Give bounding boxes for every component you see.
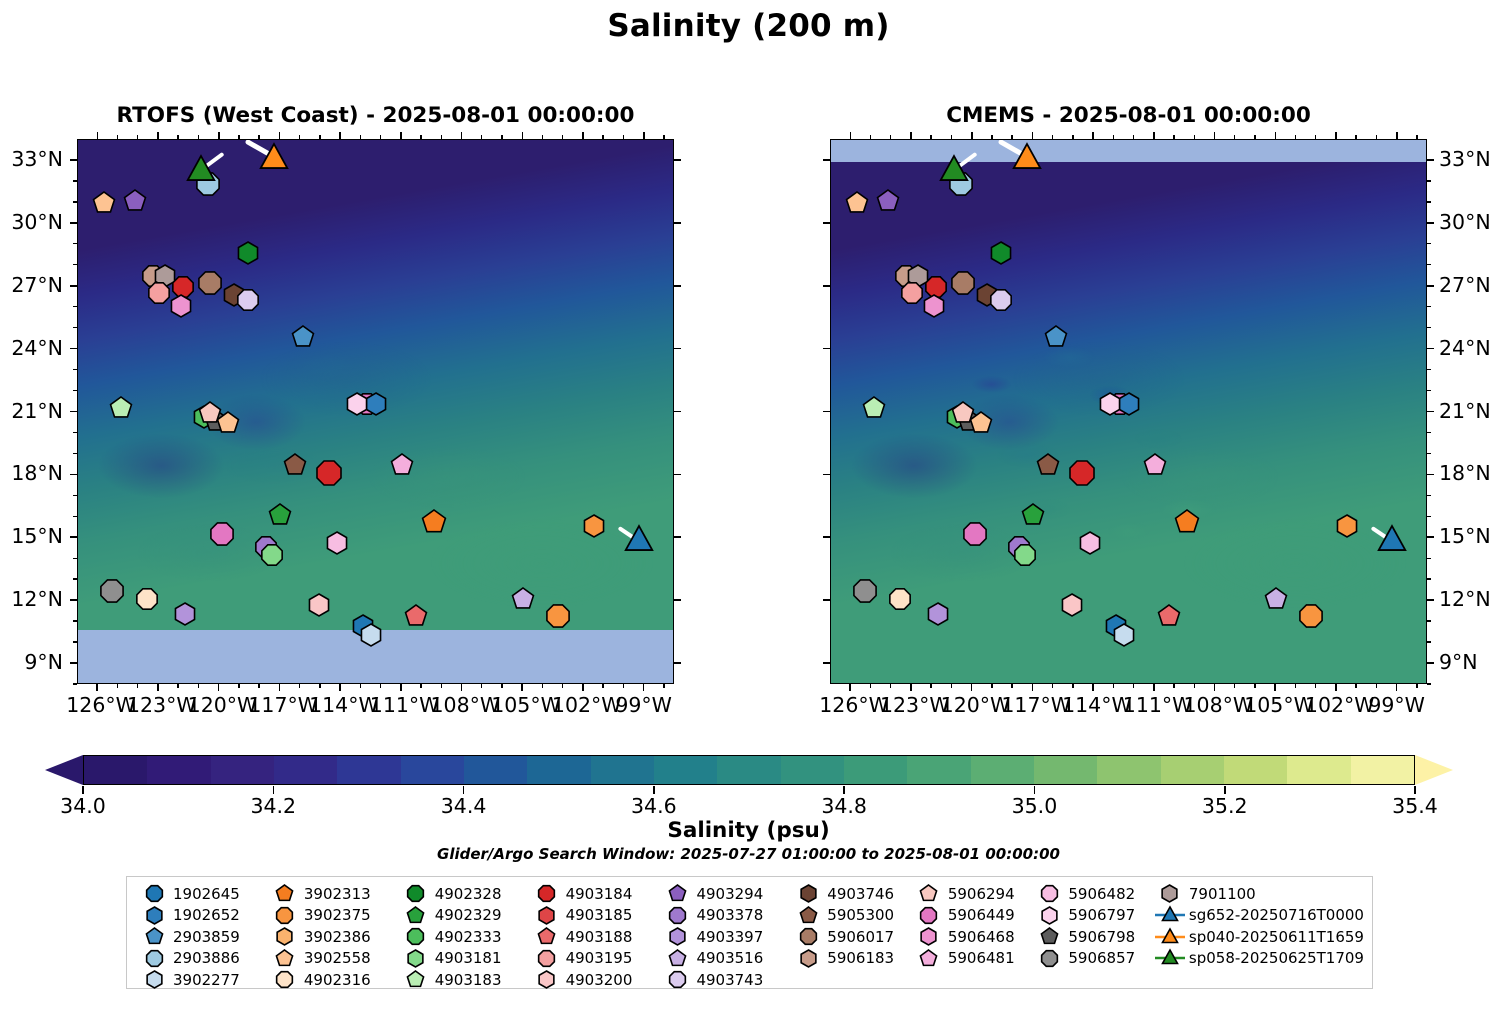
glider-track-icon: [1153, 905, 1187, 925]
y-tick-minor: [73, 180, 77, 181]
y-tick-inner: [823, 159, 830, 161]
platform-legend[interactable]: 1902645190265229038592903886390227739023…: [126, 876, 1373, 989]
platform-marker-icon: [660, 882, 694, 905]
y-tick-minor: [73, 495, 77, 496]
x-tick-label: 111°W: [370, 693, 432, 717]
legend-label: 4903378: [694, 906, 763, 924]
colorbar-tick: [273, 786, 275, 794]
legend-item[interactable]: 4903185: [530, 906, 661, 926]
x-tick-top: [97, 132, 99, 139]
x-tick-label: 126°W: [66, 693, 128, 717]
x-tick-minor: [623, 684, 624, 688]
platform-marker-icon: [268, 904, 302, 927]
y-tick-label: 30°N: [1439, 210, 1497, 234]
x-tick-minor: [420, 684, 421, 688]
legend-label: 5906857: [1066, 949, 1135, 967]
legend-item[interactable]: 4903181: [399, 949, 530, 969]
x-tick-label: 114°W: [1062, 693, 1124, 717]
map-marker: [937, 153, 971, 187]
y-tick: [70, 662, 77, 664]
colorbar-band: [1161, 756, 1224, 784]
x-tick: [971, 684, 973, 691]
platform-marker-icon: [912, 904, 946, 927]
platform-marker-icon: [268, 968, 302, 991]
x-tick-minor: [1113, 684, 1114, 688]
legend-label: 3902558: [302, 949, 371, 967]
legend-item[interactable]: 3902375: [268, 906, 399, 926]
legend-label: 4903200: [564, 971, 633, 989]
y-tick-inner: [674, 411, 681, 413]
legend-column: 5906482590679759067985906857: [1032, 884, 1153, 982]
legend-label: 5906183: [825, 949, 894, 967]
y-tick-inner: [823, 348, 830, 350]
y-tick-minor: [1427, 327, 1431, 328]
colorbar-band: [1287, 756, 1350, 784]
legend-label: 5906468: [946, 928, 1015, 946]
colorbar-band: [907, 756, 970, 784]
legend-item[interactable]: 5906798: [1032, 927, 1153, 947]
x-tick-label: 105°W: [1244, 693, 1306, 717]
search-window-text: Glider/Argo Search Window: 2025-07-27 01…: [0, 845, 1497, 863]
x-tick-label: 111°W: [1123, 693, 1185, 717]
x-tick-label: 108°W: [1184, 693, 1246, 717]
x-tick: [643, 684, 645, 691]
x-tick-minor: [991, 684, 992, 688]
y-tick-minor: [73, 390, 77, 391]
map-marker: [1010, 141, 1044, 175]
legend-column: 7901100 sg652-20250716T0000 sp040-202506…: [1153, 884, 1364, 982]
glider-track-icon: [1153, 927, 1187, 947]
y-tick-label: 18°N: [1439, 461, 1497, 485]
platform-marker-icon: [912, 947, 946, 970]
platform-marker-icon: [791, 925, 825, 948]
legend-item[interactable]: 1902645: [137, 884, 268, 904]
legend-label: 2903859: [171, 928, 240, 946]
legend-label: 4903184: [564, 885, 633, 903]
legend-item[interactable]: sg652-20250716T0000: [1153, 906, 1364, 926]
y-tick: [70, 348, 77, 350]
y-tick-minor: [1427, 243, 1431, 244]
map-marker: [258, 541, 286, 569]
y-tick: [70, 411, 77, 413]
legend-label: 3902277: [171, 971, 240, 989]
legend-label: 5905300: [825, 906, 894, 924]
legend-label: 4903195: [564, 949, 633, 967]
map-marker: [343, 390, 371, 418]
map-marker: [305, 591, 333, 619]
x-tick: [461, 684, 463, 691]
legend-label: 5906017: [825, 928, 894, 946]
x-tick-minor: [1355, 684, 1356, 688]
map-marker: [357, 621, 385, 649]
map-marker: [281, 451, 309, 479]
legend-item[interactable]: 3902277: [137, 970, 268, 990]
map-marker: [1076, 529, 1104, 557]
legend-label: 4903397: [694, 928, 763, 946]
legend-item[interactable]: sp058-20250625T1709: [1153, 949, 1364, 969]
x-tick: [96, 684, 98, 691]
x-tick-top: [501, 135, 502, 139]
colorbar-tick-label: 34.2: [250, 794, 296, 818]
map-panel-rtofs[interactable]: [77, 139, 674, 684]
platform-marker-icon: [137, 925, 171, 948]
legend-item[interactable]: 5905300: [791, 906, 912, 926]
legend-label: sp040-20250611T1659: [1187, 928, 1364, 946]
y-tick: [1427, 222, 1434, 224]
y-tick-minor: [1427, 495, 1431, 496]
y-tick-inner: [674, 662, 681, 664]
platform-marker-icon: [137, 904, 171, 927]
x-tick-top: [522, 132, 524, 139]
x-tick-top: [420, 135, 421, 139]
map-marker: [1155, 602, 1183, 630]
colorbar-tick-label: 35.4: [1392, 794, 1438, 818]
x-tick-top: [1052, 135, 1053, 139]
y-tick-inner: [674, 222, 681, 224]
legend-item[interactable]: 4902316: [268, 970, 399, 990]
x-tick-top: [1355, 135, 1356, 139]
legend-label: 7901100: [1187, 885, 1256, 903]
x-tick-label: 117°W: [248, 693, 310, 717]
x-tick-minor: [1295, 684, 1296, 688]
y-tick: [1427, 536, 1434, 538]
map-panel-cmems[interactable]: [830, 139, 1427, 684]
x-tick-minor: [177, 684, 178, 688]
y-tick-label: 33°N: [1439, 147, 1497, 171]
map-marker: [1066, 457, 1098, 489]
legend-item[interactable]: 4903195: [530, 949, 661, 969]
platform-marker-icon: [1032, 925, 1066, 948]
colorbar-tick-label: 34.8: [821, 794, 867, 818]
x-tick-minor: [542, 684, 543, 688]
x-tick-minor: [1173, 684, 1174, 688]
platform-marker-icon: [530, 925, 564, 948]
x-tick-top: [137, 135, 138, 139]
legend-label: 2903886: [171, 949, 240, 967]
colorbar-band: [1351, 756, 1414, 784]
platform-marker-icon: [137, 947, 171, 970]
y-tick-inner: [823, 285, 830, 287]
platform-marker-icon: [530, 968, 564, 991]
x-tick-top: [441, 135, 442, 139]
map-marker: [1296, 601, 1326, 631]
map-marker: [920, 292, 948, 320]
x-tick-minor: [238, 684, 239, 688]
y-tick-minor: [1427, 390, 1431, 391]
y-tick-inner: [823, 222, 830, 224]
legend-item[interactable]: 4903378: [660, 906, 791, 926]
x-tick: [521, 684, 523, 691]
legend-item[interactable]: 5906482: [1032, 884, 1153, 904]
x-tick-minor: [299, 684, 300, 688]
y-tick-minor: [1427, 432, 1431, 433]
map-marker: [234, 239, 262, 267]
y-tick-minor: [73, 201, 77, 202]
x-tick: [582, 684, 584, 691]
x-tick-top: [481, 135, 482, 139]
platform-marker-icon: [268, 882, 302, 905]
y-tick-minor: [1427, 578, 1431, 579]
colorbar-gradient: [83, 755, 1415, 785]
legend-item[interactable]: 5906017: [791, 927, 912, 947]
map-marker: [289, 323, 317, 351]
x-tick-top: [360, 135, 361, 139]
x-tick-top: [339, 132, 341, 139]
legend-item[interactable]: 3902558: [268, 949, 399, 969]
x-tick-label: 123°W: [127, 693, 189, 717]
y-tick: [1427, 159, 1434, 161]
y-tick-label: 15°N: [0, 524, 63, 548]
legend-item[interactable]: 4903746: [791, 884, 912, 904]
legend-label: 4903188: [564, 928, 633, 946]
y-tick: [1427, 662, 1434, 664]
colorbar-tick: [463, 786, 465, 794]
map-marker: [543, 601, 573, 631]
colorbar-band: [84, 756, 147, 784]
glider-track-icon: [1153, 948, 1187, 968]
colorbar-extend-min-arrow: [45, 755, 83, 785]
x-tick-label: 120°W: [941, 693, 1003, 717]
platform-marker-icon: [660, 904, 694, 927]
x-tick-top: [1092, 132, 1094, 139]
legend-item[interactable]: 4903183: [399, 970, 530, 990]
y-tick-inner: [674, 536, 681, 538]
x-tick: [1032, 684, 1034, 691]
y-tick-minor: [73, 369, 77, 370]
platform-marker-icon: [1153, 882, 1187, 905]
x-tick: [1396, 684, 1398, 691]
x-tick-minor: [602, 684, 603, 688]
legend-item[interactable]: 4903188: [530, 927, 661, 947]
x-tick-top: [1234, 135, 1235, 139]
map-marker: [171, 600, 199, 628]
platform-marker-icon: [399, 925, 433, 948]
y-tick-inner: [823, 474, 830, 476]
y-tick-minor: [73, 578, 77, 579]
x-tick: [339, 684, 341, 691]
legend-label: 4903185: [564, 906, 633, 924]
y-tick-minor: [73, 453, 77, 454]
colorbar-tick-label: 34.6: [631, 794, 677, 818]
legend-item[interactable]: 3902313: [268, 884, 399, 904]
x-tick-top: [1254, 135, 1255, 139]
map-marker: [121, 187, 149, 215]
x-tick-top: [157, 132, 159, 139]
legend-item[interactable]: 4903184: [530, 884, 661, 904]
platform-marker-icon: [791, 904, 825, 927]
map-marker: [323, 529, 351, 557]
y-tick-label: 24°N: [1439, 336, 1497, 360]
y-tick: [1427, 474, 1434, 476]
map-marker: [90, 189, 118, 217]
platform-marker-icon: [660, 947, 694, 970]
panel-title-cmems: CMEMS - 2025-08-01 00:00:00: [830, 103, 1427, 128]
y-tick-label: 12°N: [1439, 587, 1497, 611]
y-tick: [1427, 348, 1434, 350]
x-tick-minor: [870, 684, 871, 688]
x-tick-top: [663, 135, 664, 139]
x-tick-minor: [258, 684, 259, 688]
y-tick-label: 30°N: [0, 210, 63, 234]
legend-column: 5906294590644959064685906481: [912, 884, 1033, 982]
x-tick-minor: [1416, 684, 1417, 688]
colorbar-band: [1097, 756, 1160, 784]
legend-item[interactable]: 1902652: [137, 906, 268, 926]
colorbar-tick: [82, 786, 84, 794]
platform-marker-icon: [1032, 904, 1066, 927]
map-marker: [266, 501, 294, 529]
x-tick-minor: [441, 684, 442, 688]
x-tick-minor: [1254, 684, 1255, 688]
platform-marker-icon: [660, 968, 694, 991]
legend-item[interactable]: 5906468: [912, 927, 1033, 947]
y-tick-label: 24°N: [0, 336, 63, 360]
colorbar-tick: [1414, 786, 1416, 794]
x-tick-minor: [1133, 684, 1134, 688]
map-marker: [509, 585, 537, 613]
y-tick: [1427, 285, 1434, 287]
x-tick-minor: [1194, 684, 1195, 688]
legend-item[interactable]: 2903886: [137, 949, 268, 969]
legend-item[interactable]: 4903200: [530, 970, 661, 990]
legend-item[interactable]: 5906183: [791, 949, 912, 969]
y-tick-label: 27°N: [1439, 273, 1497, 297]
legend-label: 4903183: [433, 971, 502, 989]
legend-label: 5906798: [1066, 928, 1135, 946]
legend-item[interactable]: 4902333: [399, 927, 530, 947]
x-tick: [849, 684, 851, 691]
y-tick-inner: [674, 474, 681, 476]
legend-item[interactable]: sp040-20250611T1659: [1153, 927, 1364, 947]
legend-label: 3902313: [302, 885, 371, 903]
map-marker: [167, 292, 195, 320]
legend-column: 4903746590530059060175906183: [791, 884, 912, 982]
legend-item[interactable]: 5906294: [912, 884, 1033, 904]
legend-item[interactable]: 4902329: [399, 906, 530, 926]
y-tick-label: 27°N: [0, 273, 63, 297]
x-tick: [1335, 684, 1337, 691]
map-marker: [1333, 512, 1361, 540]
map-marker: [402, 602, 430, 630]
x-tick-minor: [890, 684, 891, 688]
legend-item[interactable]: 5906481: [912, 949, 1033, 969]
y-tick-minor: [73, 516, 77, 517]
colorbar-tick: [1224, 786, 1226, 794]
x-tick-top: [1275, 132, 1277, 139]
legend-item[interactable]: 4903743: [660, 970, 791, 990]
x-tick-label: 102°W: [1305, 693, 1367, 717]
legend-label: 4903743: [694, 971, 763, 989]
legend-label: 4903746: [825, 885, 894, 903]
platform-marker-icon: [399, 968, 433, 991]
x-tick-minor: [501, 684, 502, 688]
map-marker: [133, 585, 161, 613]
x-tick-top: [1335, 132, 1337, 139]
y-tick-minor: [1427, 306, 1431, 307]
x-tick-minor: [319, 684, 320, 688]
x-tick-top: [198, 135, 199, 139]
y-tick-inner: [674, 285, 681, 287]
x-tick-top: [1133, 135, 1134, 139]
map-marker: [1096, 390, 1124, 418]
colorbar-tick-label: 35.0: [1012, 794, 1058, 818]
colorbar[interactable]: [45, 755, 1453, 785]
legend-label: 5906481: [946, 949, 1015, 967]
legend-label: 1902645: [171, 885, 240, 903]
x-tick-top: [1032, 132, 1034, 139]
x-tick-minor: [663, 684, 664, 688]
legend-item[interactable]: 2903859: [137, 927, 268, 947]
x-tick-top: [542, 135, 543, 139]
legend-label: 4902328: [433, 885, 502, 903]
x-tick-top: [380, 135, 381, 139]
x-tick-top: [1376, 135, 1377, 139]
legend-item[interactable]: 5906797: [1032, 906, 1153, 926]
platform-marker-icon: [1032, 947, 1066, 970]
x-tick-top: [643, 132, 645, 139]
legend-item[interactable]: 4902328: [399, 884, 530, 904]
x-tick-top: [177, 135, 178, 139]
colorbar-band: [781, 756, 844, 784]
map-marker: [1019, 501, 1047, 529]
figure-suptitle: Salinity (200 m): [0, 8, 1497, 44]
x-tick-top: [117, 135, 118, 139]
x-tick-label: 102°W: [552, 693, 614, 717]
x-tick-minor: [951, 684, 952, 688]
x-tick: [279, 684, 281, 691]
y-tick-label: 15°N: [1439, 524, 1497, 548]
platform-marker-icon: [530, 947, 564, 970]
y-tick-label: 9°N: [1439, 650, 1497, 674]
x-tick-top: [582, 132, 584, 139]
legend-item[interactable]: 5906449: [912, 906, 1033, 926]
y-tick-label: 18°N: [0, 461, 63, 485]
legend-item[interactable]: 7901100: [1153, 884, 1364, 904]
x-tick-top: [1194, 135, 1195, 139]
y-tick-minor: [1427, 683, 1431, 684]
x-tick-minor: [1376, 684, 1377, 688]
y-tick: [70, 222, 77, 224]
colorbar-tick: [843, 786, 845, 794]
map-marker: [388, 451, 416, 479]
legend-item[interactable]: 4903294: [660, 884, 791, 904]
legend-item[interactable]: 3902386: [268, 927, 399, 947]
colorbar-tick-label: 34.4: [441, 794, 487, 818]
legend-item[interactable]: 4903516: [660, 949, 791, 969]
y-tick: [70, 285, 77, 287]
map-marker: [313, 457, 345, 489]
y-tick-inner: [674, 599, 681, 601]
map-marker: [850, 576, 880, 606]
figure-canvas: Salinity (200 m) RTOFS (West Coast) - 20…: [0, 0, 1497, 1014]
platform-marker-icon: [791, 882, 825, 905]
x-tick-top: [279, 132, 281, 139]
y-tick-minor: [1427, 620, 1431, 621]
x-tick-minor: [1234, 684, 1235, 688]
legend-item[interactable]: 4903397: [660, 927, 791, 947]
colorbar-tick-label: 35.2: [1202, 794, 1248, 818]
y-tick-minor: [73, 683, 77, 684]
x-tick-top: [971, 132, 973, 139]
x-tick: [400, 684, 402, 691]
x-tick-top: [400, 132, 402, 139]
legend-item[interactable]: 5906857: [1032, 949, 1153, 969]
x-tick-top: [623, 135, 624, 139]
map-marker: [257, 141, 291, 175]
x-tick-top: [319, 135, 320, 139]
y-tick-inner: [674, 348, 681, 350]
y-tick-inner: [823, 536, 830, 538]
